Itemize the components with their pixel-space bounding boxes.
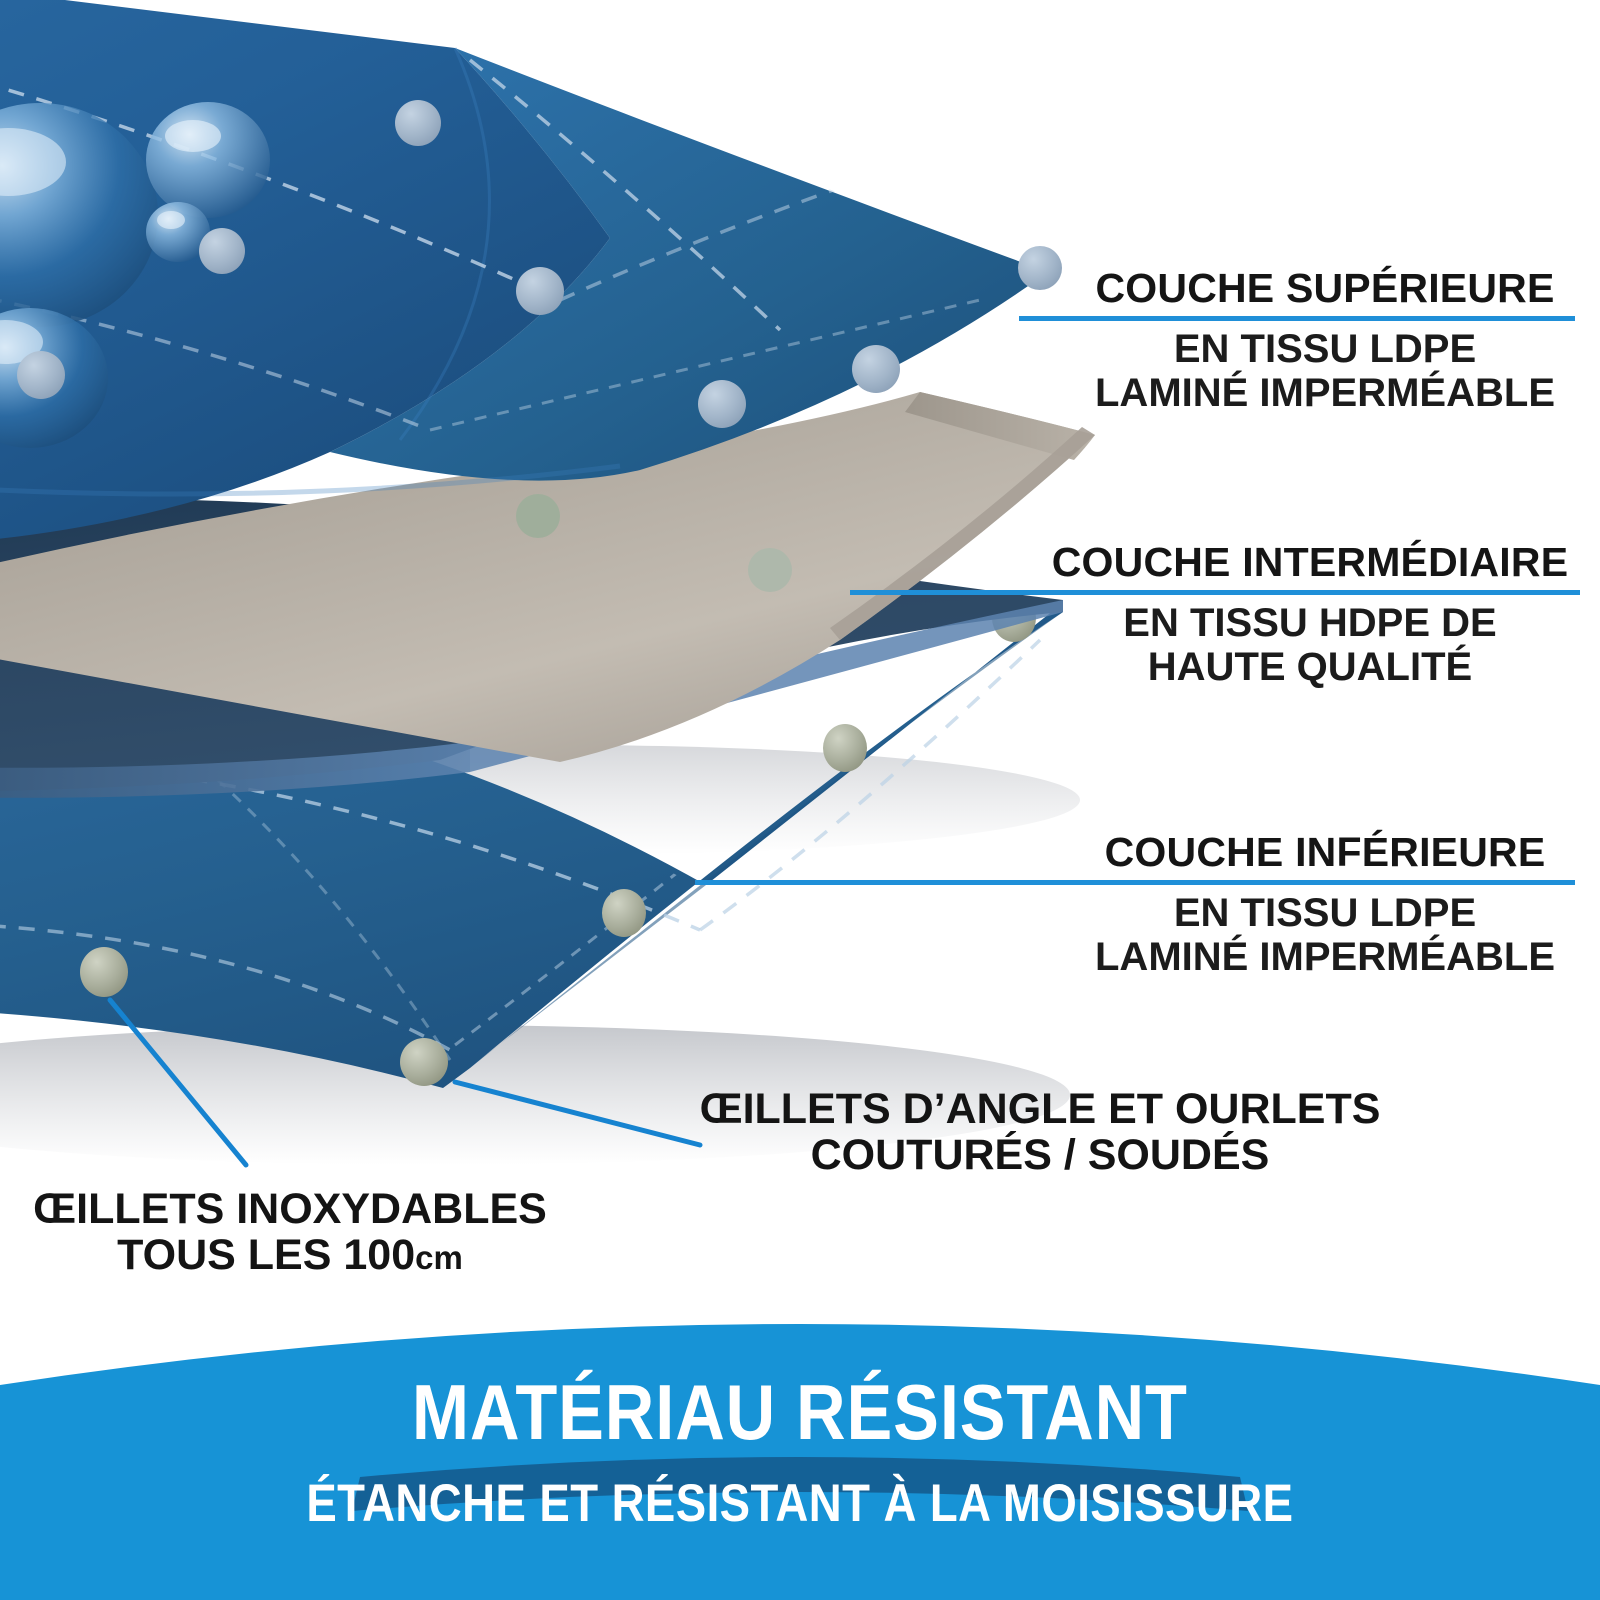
callout-grommets-line1: ŒILLETS INOXYDABLES (33, 1185, 547, 1233)
callout-middle-layer-sub-line1: EN TISSU HDPE DE (1040, 601, 1580, 645)
grommet-icon (199, 228, 245, 274)
callout-middle-layer-rule (850, 590, 1580, 595)
callout-hems-line2: COUTURÉS / SOUDÉS (660, 1132, 1420, 1178)
callout-grommets-unit: cm (415, 1239, 463, 1276)
bottom-banner (0, 1315, 1600, 1600)
callout-top-layer: COUCHE SUPÉRIEURE EN TISSU LDPE LAMINÉ I… (1075, 268, 1575, 415)
callout-grommets-line2: TOUS LES 100cm (10, 1232, 570, 1278)
grommet-icon (852, 345, 900, 393)
callout-grommets-prefix: TOUS LES (117, 1231, 343, 1279)
grommet-icon (602, 889, 646, 937)
grommet-icon (80, 947, 128, 997)
callout-middle-layer-sub-line2: HAUTE QUALITÉ (1040, 645, 1580, 689)
callout-top-layer-heading: COUCHE SUPÉRIEURE (1075, 268, 1575, 309)
grommet-icon (17, 351, 65, 399)
callout-bottom-layer-sub-line1: EN TISSU LDPE (1075, 891, 1575, 935)
infographic-page: COUCHE SUPÉRIEURE EN TISSU LDPE LAMINÉ I… (0, 0, 1600, 1600)
grommet-icon (748, 548, 792, 592)
grommet-icon (400, 1038, 448, 1086)
callout-grommets-value: 100 (343, 1231, 415, 1279)
callout-hems: ŒILLETS D’ANGLE ET OURLETS COUTURÉS / SO… (660, 1086, 1420, 1179)
callout-middle-layer: COUCHE INTERMÉDIAIRE EN TISSU HDPE DE HA… (1040, 542, 1580, 689)
callout-top-layer-rule (1019, 316, 1575, 321)
callout-bottom-layer: COUCHE INFÉRIEURE EN TISSU LDPE LAMINÉ I… (1075, 832, 1575, 979)
callout-bottom-layer-rule (695, 880, 1575, 885)
callout-bottom-layer-sub-line2: LAMINÉ IMPERMÉABLE (1075, 935, 1575, 979)
grommet-icon (698, 380, 746, 428)
callout-bottom-layer-heading: COUCHE INFÉRIEURE (1075, 832, 1575, 873)
grommet-icon (1018, 246, 1062, 290)
callout-middle-layer-heading: COUCHE INTERMÉDIAIRE (1040, 542, 1580, 583)
callout-grommets: ŒILLETS INOXYDABLES TOUS LES 100cm (10, 1186, 570, 1279)
callout-hems-line1: ŒILLETS D’ANGLE ET OURLETS (700, 1085, 1381, 1133)
callout-top-layer-sub-line2: LAMINÉ IMPERMÉABLE (1075, 371, 1575, 415)
grommet-icon (823, 724, 867, 772)
grommet-icon (516, 267, 564, 315)
callout-top-layer-sub-line1: EN TISSU LDPE (1075, 327, 1575, 371)
grommet-icon (516, 494, 560, 538)
grommet-icon (395, 100, 441, 146)
